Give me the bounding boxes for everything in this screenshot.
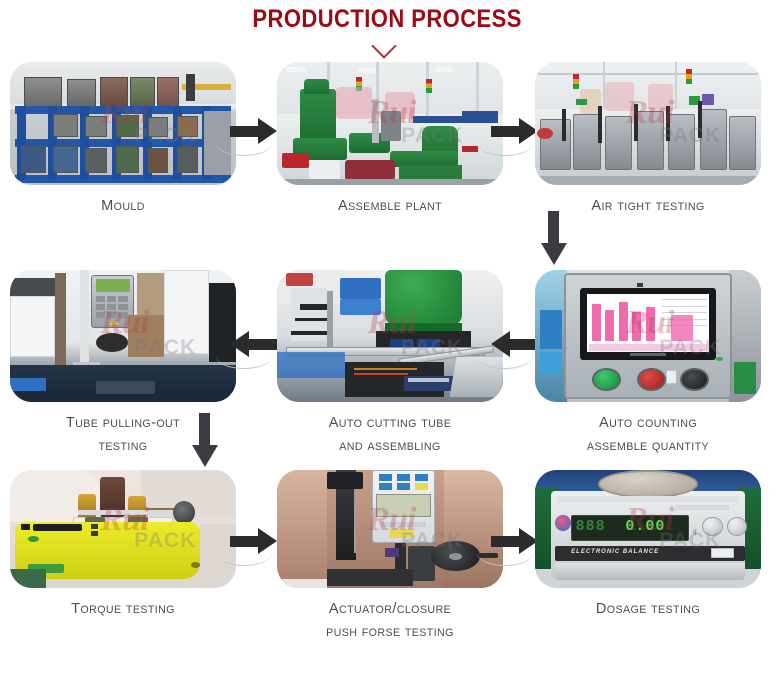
step-caption-auto-cutting-tube: Auto cutting tube and assembling: [280, 411, 499, 458]
balance-brand-label: ELECTRONIC BALANCE: [571, 549, 659, 555]
step-photo-assemble-plant: Rui PACK: [277, 62, 503, 185]
caption-line: Dosage testing: [538, 597, 757, 620]
step-caption-dosage-testing: Dosage testing: [538, 597, 757, 620]
arrow-left-icon: [230, 331, 278, 357]
page-title: PRODUCTION PROCESS: [253, 6, 523, 32]
caption-line: assemble quantity: [538, 434, 757, 457]
arrow-right-icon: [230, 118, 278, 144]
caption-line: Auto counting: [538, 411, 757, 434]
step-photo-mould: Rui PACK: [10, 62, 236, 185]
step-photo-air-tight-testing: Rui PACK: [535, 62, 761, 185]
step-caption-torque-testing: Torque testing: [13, 597, 232, 620]
balance-reading: 0.00: [625, 518, 665, 535]
process-flow-grid: Rui PACK Mould: [0, 58, 775, 683]
caption-line: Torque testing: [13, 597, 232, 620]
step-photo-torque-testing: Rui PACK: [10, 470, 236, 588]
caption-line: Auto cutting tube: [280, 411, 499, 434]
arrow-right-icon: [230, 528, 278, 554]
process-step-mould: Rui PACK Mould: [10, 62, 236, 217]
arrow-right-icon: [491, 528, 539, 554]
process-step-air-tight-testing: Rui PACK Air tight testing: [535, 62, 761, 217]
process-step-auto-counting: Rui PACK Auto counting assemble quantity: [535, 270, 761, 458]
caption-line: Air tight testing: [538, 194, 757, 217]
step-caption-actuator-push-force-testing: Actuator/closure push forse testing: [280, 597, 499, 644]
step-photo-auto-cutting-tube: Rui PACK: [277, 270, 503, 402]
caption-line: Assemble plant: [280, 194, 499, 217]
process-step-auto-cutting-tube: Rui PACK Auto cutting tube and assemblin…: [277, 270, 503, 458]
step-photo-dosage-testing: 888 0.00 g ELECTRONIC BALANCE Rui PACK: [535, 470, 761, 588]
step-photo-tube-pulling-out-testing: Rui PACK: [10, 270, 236, 402]
arrow-left-icon: [491, 331, 539, 357]
step-photo-auto-counting: Rui PACK: [535, 270, 761, 402]
chevron-down-icon: [373, 36, 403, 50]
step-caption-mould: Mould: [13, 194, 232, 217]
step-photo-actuator-push-force-testing: Rui PACK: [277, 470, 503, 588]
caption-line: Mould: [13, 194, 232, 217]
step-caption-auto-counting: Auto counting assemble quantity: [538, 411, 757, 458]
step-caption-air-tight-testing: Air tight testing: [538, 194, 757, 217]
caption-line: Actuator/closure: [280, 597, 499, 620]
arrow-down-icon: [192, 413, 218, 469]
process-step-dosage-testing: 888 0.00 g ELECTRONIC BALANCE Rui PACK D…: [535, 470, 761, 620]
page-header: PRODUCTION PROCESS: [0, 0, 775, 50]
step-caption-assemble-plant: Assemble plant: [280, 194, 499, 217]
arrow-right-icon: [491, 118, 539, 144]
process-step-actuator-push-force-testing: Rui PACK Actuator/closure push forse tes…: [277, 470, 503, 644]
caption-line: push forse testing: [280, 620, 499, 643]
caption-line: and assembling: [280, 434, 499, 457]
process-step-torque-testing: Rui PACK Torque testing: [10, 470, 236, 620]
process-step-assemble-plant: Rui PACK Assemble plant: [277, 62, 503, 217]
arrow-down-icon: [541, 211, 567, 267]
